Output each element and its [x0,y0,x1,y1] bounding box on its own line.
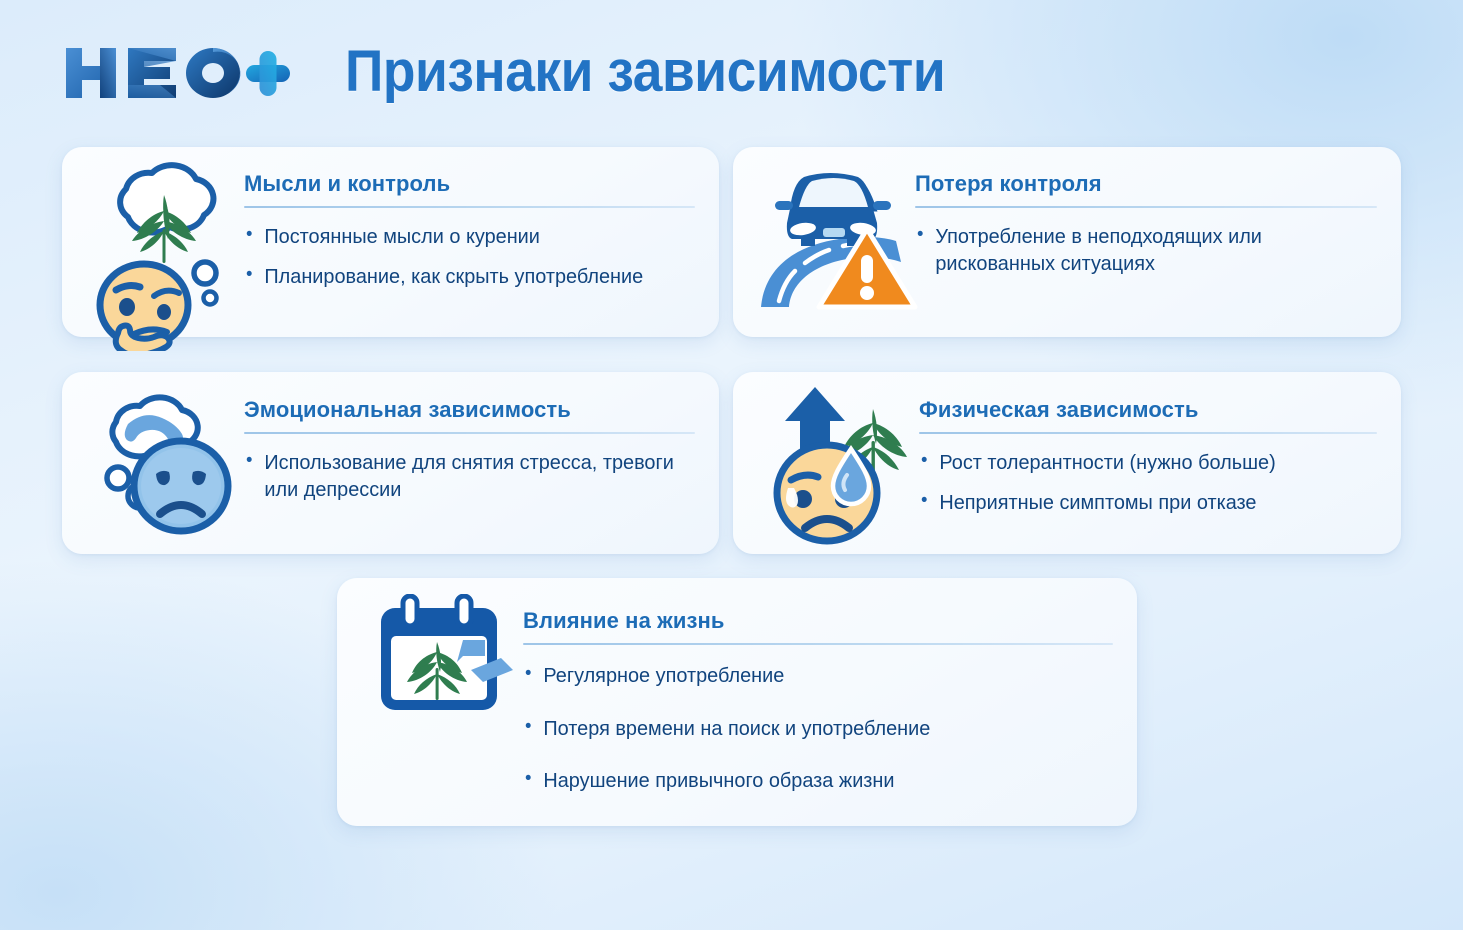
heading-divider [915,206,1377,208]
list-item: Использование для снятия стресса, тревог… [244,450,681,503]
page-title: Признаки зависимости [345,38,945,105]
list-item: Рост толерантности (нужно больше) [919,450,1363,477]
card-loss-of-control: Потеря контроля Употребление в неподходя… [733,147,1401,337]
card-physical-dependence: Физическая зависимость Рост толерантност… [733,372,1401,554]
card-heading: Физическая зависимость [919,397,1377,423]
sad-blue-face-with-thought-cloud-icon [88,386,243,541]
neo-plus-logo [62,40,292,106]
list-item: Потеря времени на поиск и употребление [523,716,1095,743]
card-heading: Эмоциональная зависимость [244,397,695,423]
heading-divider [244,432,695,434]
card-body: Потеря контроля Употребление в неподходя… [915,147,1401,337]
heading-divider [919,432,1377,434]
car-on-winding-road-with-warning-triangle-icon [755,161,920,311]
list-item: Регулярное употребление [523,663,1095,690]
card-heading: Потеря контроля [915,171,1377,197]
bullet-list: Регулярное употребление Потеря времени н… [523,663,1113,821]
bullet-list: Использование для снятия стресса, тревог… [244,450,695,516]
card-body: Физическая зависимость Рост толерантност… [919,372,1401,554]
card-impact-on-life: Влияние на жизнь Регулярное употребление… [337,578,1137,826]
thinking-face-with-cannabis-thought-bubble-icon [82,159,242,351]
card-body: Эмоциональная зависимость Использование … [244,372,719,554]
card-emotional-dependence: Эмоциональная зависимость Использование … [62,372,719,554]
card-body: Мысли и контроль Постоянные мысли о куре… [244,147,719,337]
infographic-canvas: Признаки зависимости [0,0,1463,930]
bullet-list: Рост толерантности (нужно больше) Неприя… [919,450,1377,529]
list-item: Планирование, как скрыть употребление [244,264,681,291]
calendar-with-cannabis-leaf-icon [375,594,520,714]
bullet-list: Употребление в неподходящих или рискован… [915,224,1377,290]
list-item: Постоянные мысли о курении [244,224,681,251]
bullet-list: Постоянные мысли о курении Планирование,… [244,224,695,303]
heading-divider [244,206,695,208]
heading-divider [523,643,1113,645]
sweating-sad-face-with-up-arrow-and-leaf-icon [757,383,925,548]
card-body: Влияние на жизнь Регулярное употребление… [523,578,1137,826]
neo-plus-logo-svg [62,40,292,106]
list-item: Употребление в неподходящих или рискован… [915,224,1363,277]
list-item: Нарушение привычного образа жизни [523,768,1095,795]
list-item: Неприятные симптомы при отказе [919,490,1363,517]
card-thoughts-and-control: Мысли и контроль Постоянные мысли о куре… [62,147,719,337]
header: Признаки зависимости [0,0,1463,140]
card-heading: Влияние на жизнь [523,608,1113,634]
card-heading: Мысли и контроль [244,171,695,197]
